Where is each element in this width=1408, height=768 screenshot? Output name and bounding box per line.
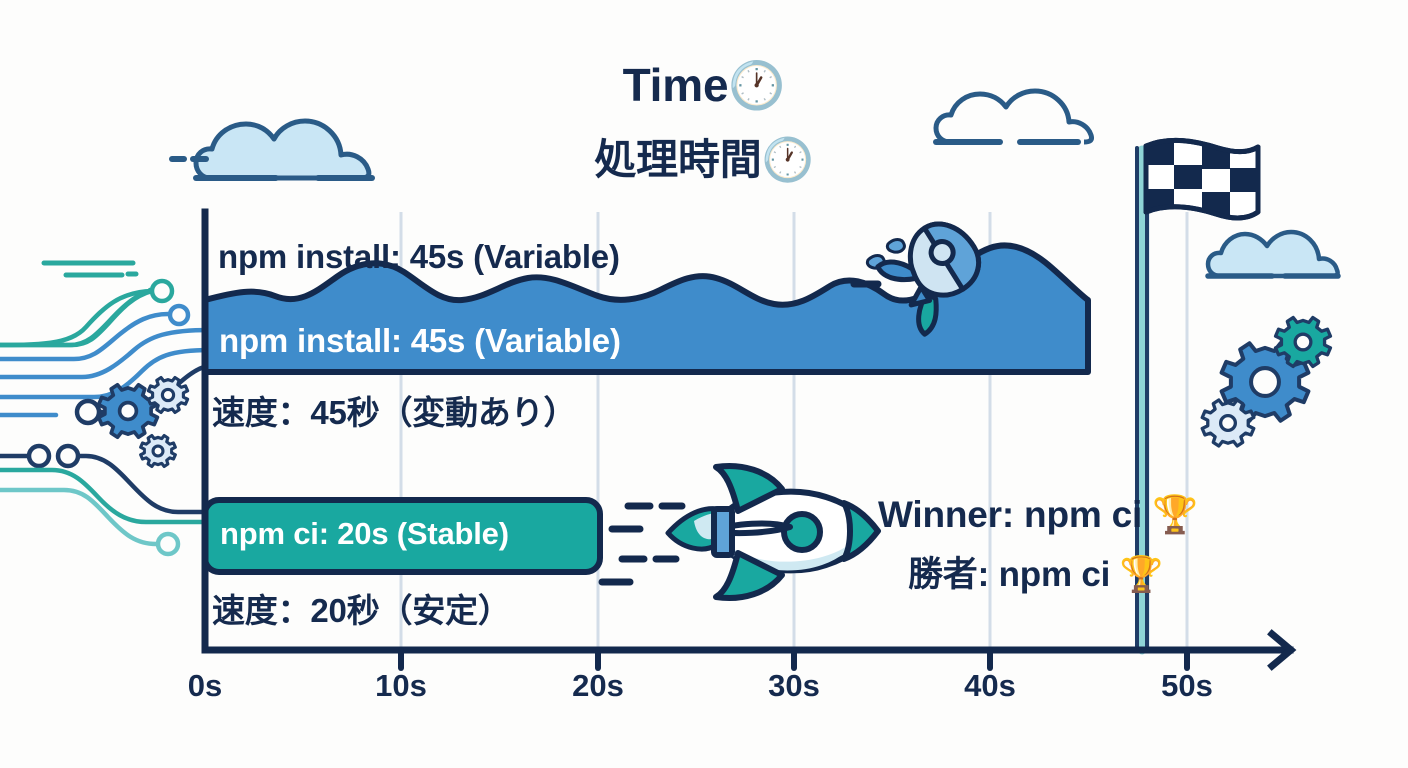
chart-canvas: Time🕐 処理時間🕐 npm install: 45s (Variable) … <box>0 0 1408 768</box>
winner-label-japanese: 勝者: npm ci 🏆 <box>908 546 1163 597</box>
gear-icon-left-small-bottom <box>141 436 176 467</box>
chart-artwork <box>0 0 1408 768</box>
bar-install-bottom-label: 速度：45秒（変動あり） <box>212 386 576 434</box>
axis-tick-20s: 20s <box>572 668 624 704</box>
rocket-icon-teal <box>602 466 878 598</box>
axis-tick-10s: 10s <box>375 668 427 704</box>
page-title: Time🕐 <box>0 58 1408 113</box>
axis-tick-40s: 40s <box>964 668 1016 704</box>
axis-tick-30s: 30s <box>768 668 820 704</box>
axis-tick-0s: 0s <box>188 668 222 704</box>
page-subtitle-text: 処理時間 <box>594 136 761 183</box>
bar-install-top-label: npm install: 45s (Variable) <box>218 238 620 276</box>
page-subtitle: 処理時間🕐 <box>0 126 1408 187</box>
bar-ci-inner-label: npm ci: 20s (Stable) <box>220 516 509 552</box>
bar-ci-bottom-label: 速度：20秒（安定） <box>212 584 511 632</box>
axis-tick-50s: 50s <box>1161 668 1213 704</box>
cloud-icon-right <box>1208 232 1338 276</box>
clock-icon-secondary: 🕐 <box>762 135 814 184</box>
bar-install-inner-label: npm install: 45s (Variable) <box>219 322 621 360</box>
winner-label-english: Winner: npm ci 🏆 <box>878 494 1198 537</box>
clock-icon: 🕐 <box>728 58 785 112</box>
page-title-text: Time <box>623 59 729 111</box>
